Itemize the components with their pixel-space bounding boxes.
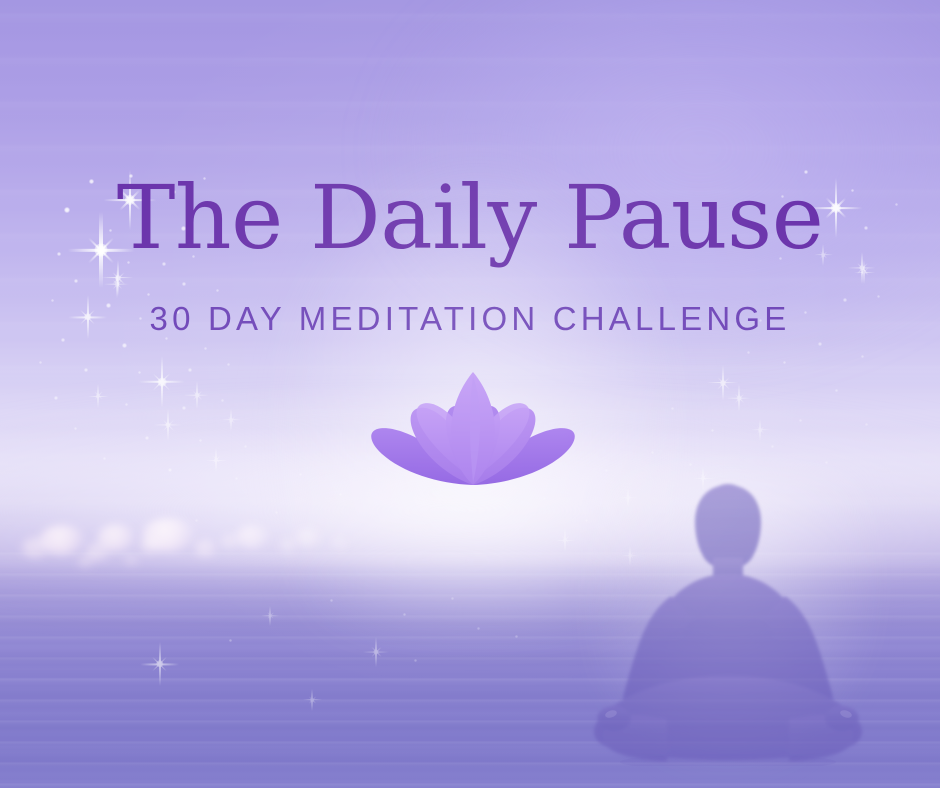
lotus-flower-icon [366, 368, 580, 488]
page-subtitle: 30 DAY MEDITATION CHALLENGE [0, 300, 940, 338]
meditation-poster: The Daily Pause 30 DAY MEDITATION CHALLE… [0, 0, 940, 788]
meditating-person-silhouette-icon [565, 478, 885, 766]
page-title: The Daily Pause [0, 172, 940, 264]
